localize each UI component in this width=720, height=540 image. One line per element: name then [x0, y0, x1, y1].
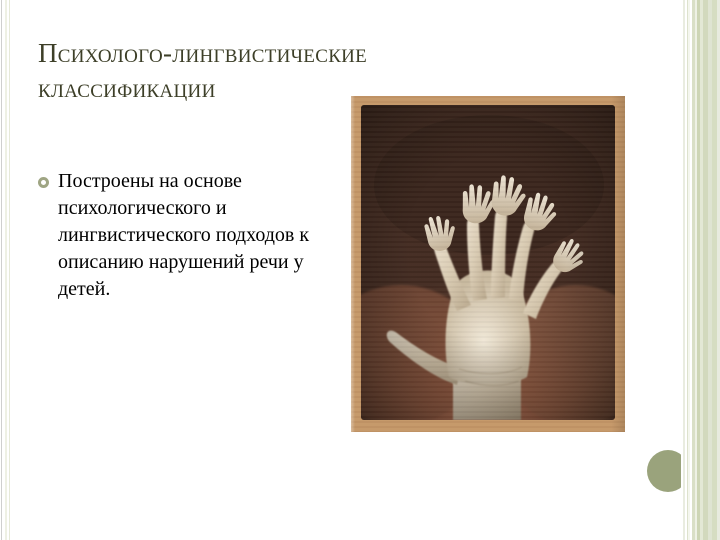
- ring-bullet-icon: [38, 177, 49, 188]
- template-corner-dot: [647, 450, 689, 492]
- slide: Психолого-лингвистические классификации …: [0, 0, 720, 540]
- template-edge-stripes-left: [0, 0, 14, 540]
- list-item-label: Построены на основе психологического и л…: [58, 168, 328, 303]
- fractal-hand-illustration: [361, 105, 615, 420]
- body-content: Построены на основе психологического и л…: [38, 168, 328, 303]
- list-item: Построены на основе психологического и л…: [38, 168, 328, 303]
- illustration-image: [351, 96, 625, 432]
- template-edge-stripes-right: [681, 0, 720, 540]
- photo-inner-plate: [361, 105, 615, 420]
